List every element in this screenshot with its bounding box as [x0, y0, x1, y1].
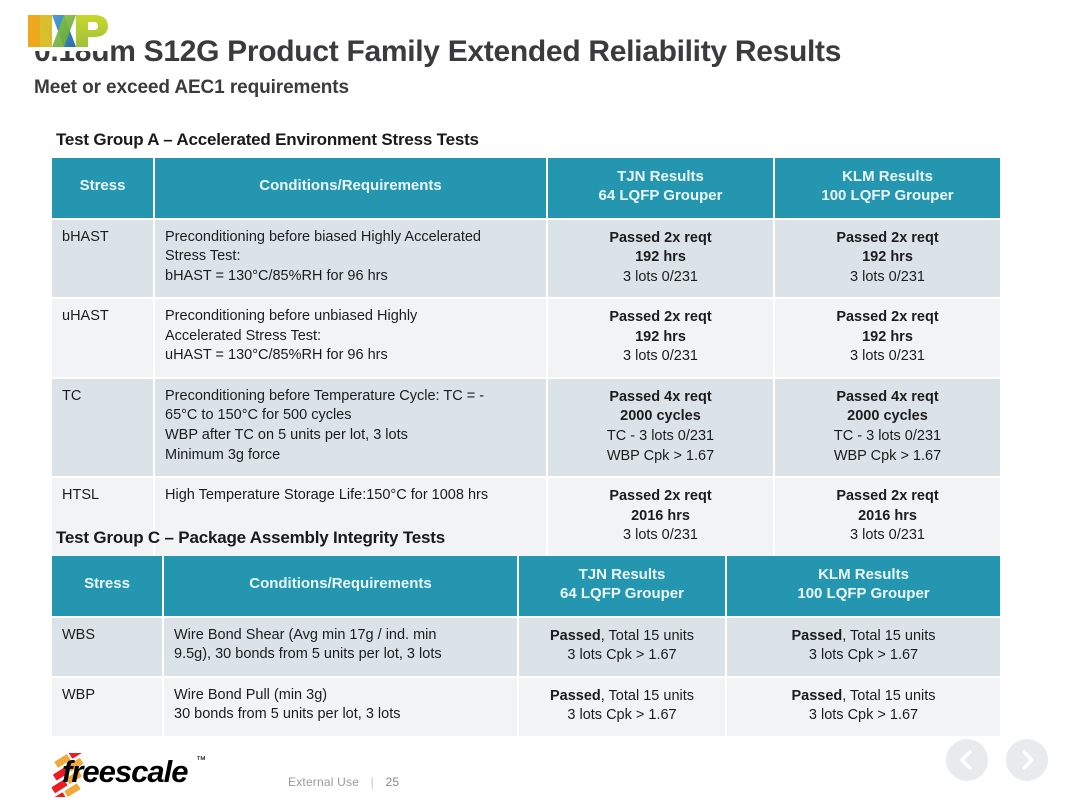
- result-line: 192 hrs: [558, 248, 763, 268]
- col-header-title: TJN Results: [552, 168, 769, 187]
- condition-line: Preconditioning before Temperature Cycle…: [165, 387, 536, 407]
- col-header-title: Conditions/Requirements: [168, 575, 513, 594]
- col-header-title: Stress: [56, 575, 158, 594]
- table-header-row: Stress Conditions/Requirements TJN Resul…: [52, 556, 1000, 616]
- cell-tjn-result: Passed 2x reqt192 hrs3 lots 0/231: [548, 220, 773, 298]
- table-row: WBPWire Bond Pull (min 3g)30 bonds from …: [52, 678, 1000, 736]
- table-group-a-body: bHASTPreconditioning before biased Highl…: [52, 220, 1000, 556]
- col-header-title: Conditions/Requirements: [159, 177, 542, 196]
- title-block: 0.18um S12G Product Family Extended Reli…: [34, 36, 1064, 99]
- condition-line: 30 bonds from 5 units per lot, 3 lots: [174, 705, 507, 725]
- result-line: TC - 3 lots 0/231: [785, 427, 990, 447]
- trademark-symbol: ™: [196, 755, 206, 766]
- footer-separator: |: [371, 775, 374, 789]
- condition-line: Preconditioning before biased Highly Acc…: [165, 228, 536, 248]
- cell-conditions: Wire Bond Pull (min 3g)30 bonds from 5 u…: [164, 678, 517, 736]
- table-group-c: Stress Conditions/Requirements TJN Resul…: [50, 554, 1002, 738]
- page-subtitle: Meet or exceed AEC1 requirements: [34, 77, 1064, 99]
- result-line: Passed 2x reqt: [785, 229, 990, 249]
- result-line: 3 lots Cpk > 1.67: [529, 706, 715, 726]
- table-row: TCPreconditioning before Temperature Cyc…: [52, 379, 1000, 476]
- result-line: 2016 hrs: [558, 507, 763, 527]
- condition-line: Minimum 3g force: [165, 446, 536, 466]
- result-line: 192 hrs: [785, 328, 990, 348]
- col-header-subtitle: 64 LQFP Grouper: [523, 585, 721, 604]
- result-line: Passed 2x reqt: [785, 308, 990, 328]
- col-header-stress: Stress: [52, 556, 162, 616]
- table-row: bHASTPreconditioning before biased Highl…: [52, 220, 1000, 298]
- cell-stress: uHAST: [52, 299, 153, 377]
- result-line: 3 lots Cpk > 1.67: [737, 646, 990, 666]
- condition-line: Accelerated Stress Test:: [165, 327, 536, 347]
- cell-tjn-result: Passed, Total 15 units3 lots Cpk > 1.67: [519, 678, 725, 736]
- result-line: 3 lots Cpk > 1.67: [737, 706, 990, 726]
- table-group-a-header: Stress Conditions/Requirements TJN Resul…: [52, 158, 1000, 218]
- result-line: 3 lots Cpk > 1.67: [529, 646, 715, 666]
- result-line: 3 lots 0/231: [558, 526, 763, 546]
- col-header-klm: KLM Results100 LQFP Grouper: [775, 158, 1000, 218]
- result-line: TC - 3 lots 0/231: [558, 427, 763, 447]
- result-line: Passed, Total 15 units: [529, 627, 715, 647]
- result-line: 3 lots 0/231: [785, 526, 990, 546]
- col-header-subtitle: 100 LQFP Grouper: [731, 585, 996, 604]
- result-line: 2016 hrs: [785, 507, 990, 527]
- table-row: uHASTPreconditioning before unbiased Hig…: [52, 299, 1000, 377]
- cell-stress: WBS: [52, 618, 162, 676]
- result-line: Passed 4x reqt: [558, 388, 763, 408]
- condition-line: uHAST = 130°C/85%RH for 96 hrs: [165, 346, 536, 366]
- condition-line: Wire Bond Shear (Avg min 17g / ind. min: [174, 626, 507, 646]
- nxp-logo: [26, 11, 110, 51]
- cell-stress: bHAST: [52, 220, 153, 298]
- cell-conditions: Preconditioning before Temperature Cycle…: [155, 379, 546, 476]
- col-header-title: Stress: [56, 177, 149, 196]
- freescale-wordmark: freescale: [62, 754, 187, 790]
- cell-tjn-result: Passed 4x reqt2000 cyclesTC - 3 lots 0/2…: [548, 379, 773, 476]
- col-header-title: TJN Results: [523, 566, 721, 585]
- chevron-left-icon: [946, 739, 988, 781]
- section-heading-group-c: Test Group C – Package Assembly Integrit…: [56, 528, 445, 548]
- chevron-right-icon: [1006, 739, 1048, 781]
- page-title: 0.18um S12G Product Family Extended Reli…: [34, 36, 1064, 68]
- section-heading-group-a: Test Group A – Accelerated Environment S…: [56, 130, 479, 150]
- result-line: 192 hrs: [558, 328, 763, 348]
- table-group-c-header: Stress Conditions/Requirements TJN Resul…: [52, 556, 1000, 616]
- result-line: Passed, Total 15 units: [737, 627, 990, 647]
- result-line: 3 lots 0/231: [558, 347, 763, 367]
- condition-line: 65°C to 150°C for 500 cycles: [165, 406, 536, 426]
- cell-tjn-result: Passed 2x reqt192 hrs3 lots 0/231: [548, 299, 773, 377]
- cell-klm-result: Passed 2x reqt2016 hrs3 lots 0/231: [775, 478, 1000, 556]
- condition-line: High Temperature Storage Life:150°C for …: [165, 486, 536, 506]
- condition-line: Stress Test:: [165, 247, 536, 267]
- result-line: 192 hrs: [785, 248, 990, 268]
- next-slide-button[interactable]: [1006, 739, 1048, 781]
- slide-footer: freescale ™ External Use | 25: [0, 745, 1080, 810]
- footer-meta: External Use | 25: [288, 775, 399, 789]
- cell-klm-result: Passed, Total 15 units3 lots Cpk > 1.67: [727, 678, 1000, 736]
- table-group-a: Stress Conditions/Requirements TJN Resul…: [50, 156, 1002, 558]
- result-line: Passed 2x reqt: [785, 487, 990, 507]
- cell-klm-result: Passed 2x reqt192 hrs3 lots 0/231: [775, 220, 1000, 298]
- condition-line: bHAST = 130°C/85%RH for 96 hrs: [165, 267, 536, 287]
- table-row: WBSWire Bond Shear (Avg min 17g / ind. m…: [52, 618, 1000, 676]
- result-line: Passed 2x reqt: [558, 229, 763, 249]
- col-header-subtitle: 64 LQFP Grouper: [552, 187, 769, 206]
- result-line: WBP Cpk > 1.67: [558, 447, 763, 467]
- cell-conditions: Preconditioning before biased Highly Acc…: [155, 220, 546, 298]
- table-group-c-body: WBSWire Bond Shear (Avg min 17g / ind. m…: [52, 618, 1000, 736]
- cell-conditions: Preconditioning before unbiased HighlyAc…: [155, 299, 546, 377]
- condition-line: WBP after TC on 5 units per lot, 3 lots: [165, 426, 536, 446]
- result-line: WBP Cpk > 1.67: [785, 447, 990, 467]
- cell-tjn-result: Passed 2x reqt2016 hrs3 lots 0/231: [548, 478, 773, 556]
- col-header-tjn: TJN Results64 LQFP Grouper: [548, 158, 773, 218]
- page-number: 25: [386, 775, 400, 789]
- result-line: 2000 cycles: [785, 407, 990, 427]
- table-header-row: Stress Conditions/Requirements TJN Resul…: [52, 158, 1000, 218]
- condition-line: 9.5g), 30 bonds from 5 units per lot, 3 …: [174, 645, 507, 665]
- result-line: 3 lots 0/231: [785, 347, 990, 367]
- result-line: 2000 cycles: [558, 407, 763, 427]
- result-line: Passed 2x reqt: [558, 308, 763, 328]
- cell-stress: TC: [52, 379, 153, 476]
- usage-label: External Use: [288, 775, 359, 789]
- result-line: Passed, Total 15 units: [737, 687, 990, 707]
- result-line: Passed, Total 15 units: [529, 687, 715, 707]
- col-header-title: KLM Results: [731, 566, 996, 585]
- cell-stress: WBP: [52, 678, 162, 736]
- cell-klm-result: Passed 4x reqt2000 cyclesTC - 3 lots 0/2…: [775, 379, 1000, 476]
- col-header-title: KLM Results: [779, 168, 996, 187]
- result-line: 3 lots 0/231: [785, 268, 990, 288]
- result-line: Passed 2x reqt: [558, 487, 763, 507]
- result-line: Passed 4x reqt: [785, 388, 990, 408]
- col-header-stress: Stress: [52, 158, 153, 218]
- col-header-conditions: Conditions/Requirements: [155, 158, 546, 218]
- result-line: 3 lots 0/231: [558, 268, 763, 288]
- condition-line: Preconditioning before unbiased Highly: [165, 307, 536, 327]
- cell-klm-result: Passed, Total 15 units3 lots Cpk > 1.67: [727, 618, 1000, 676]
- previous-slide-button[interactable]: [946, 739, 988, 781]
- col-header-tjn: TJN Results64 LQFP Grouper: [519, 556, 725, 616]
- col-header-subtitle: 100 LQFP Grouper: [779, 187, 996, 206]
- col-header-klm: KLM Results100 LQFP Grouper: [727, 556, 1000, 616]
- cell-conditions: Wire Bond Shear (Avg min 17g / ind. min9…: [164, 618, 517, 676]
- col-header-conditions: Conditions/Requirements: [164, 556, 517, 616]
- condition-line: Wire Bond Pull (min 3g): [174, 686, 507, 706]
- cell-klm-result: Passed 2x reqt192 hrs3 lots 0/231: [775, 299, 1000, 377]
- cell-tjn-result: Passed, Total 15 units3 lots Cpk > 1.67: [519, 618, 725, 676]
